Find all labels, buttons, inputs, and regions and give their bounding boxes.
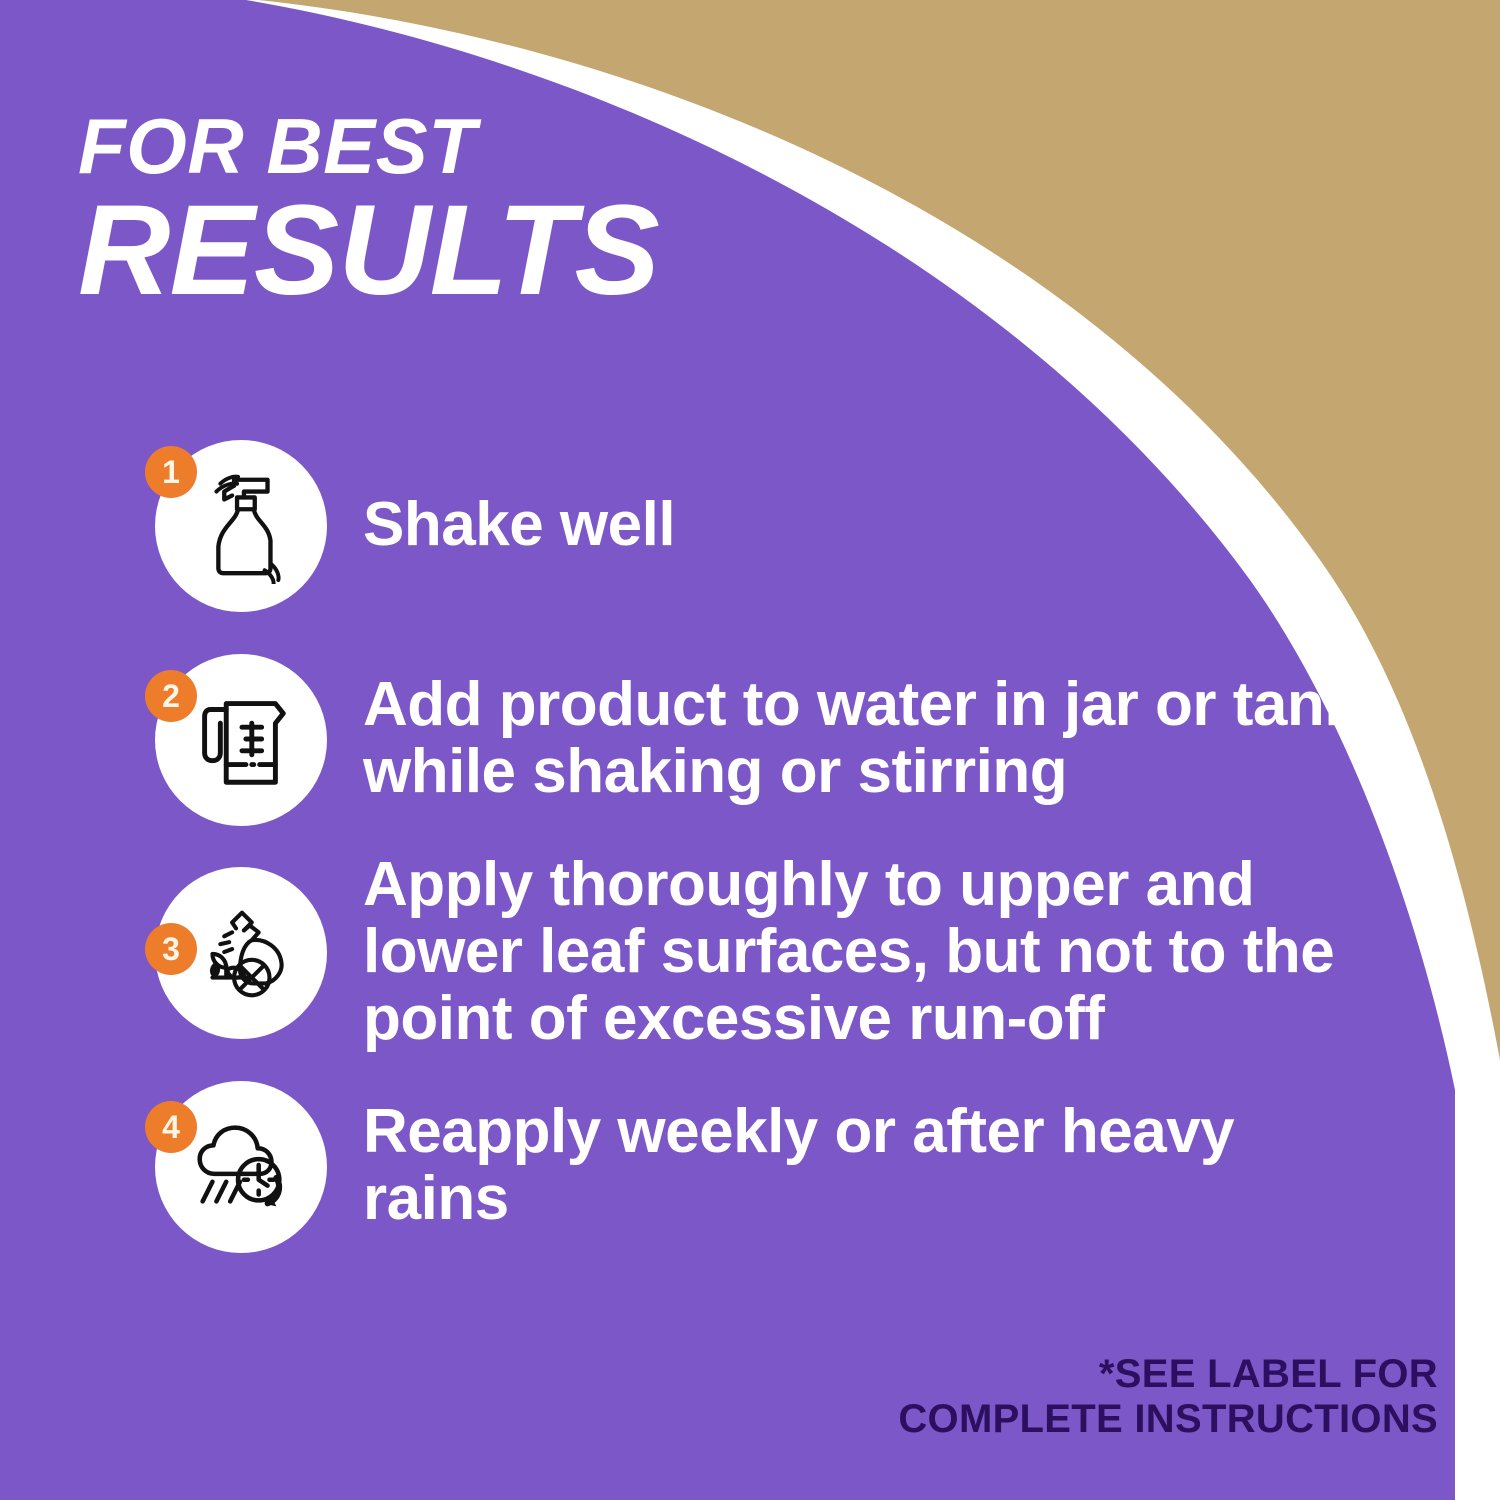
page-title: FOR BEST RESULTS	[78, 108, 659, 317]
spray-plant-no-runoff-icon	[181, 893, 299, 1011]
measuring-pitcher-icon	[181, 680, 299, 798]
footer-line-1: *SEE LABEL FOR	[898, 1352, 1438, 1397]
instruction-steps-list: 1 Shake well 2	[0, 430, 1420, 1279]
step-2-number-badge: 2	[145, 670, 197, 722]
step-4-number-badge: 4	[145, 1101, 197, 1153]
spray-bottle-shake-icon	[181, 466, 299, 584]
step-2-icon-container: 2	[145, 644, 335, 834]
step-1-icon-container: 1	[145, 430, 335, 620]
step-4-text: Reapply weekly or after heavy rains	[363, 1099, 1373, 1233]
list-item-step-1: 1 Shake well	[0, 430, 1420, 620]
step-1-number-badge: 1	[145, 446, 197, 498]
step-1-text: Shake well	[363, 492, 675, 559]
list-item-step-3: 3 Apply thoroughly to upper and lower le…	[0, 852, 1420, 1053]
step-4-icon-container: 4	[145, 1071, 335, 1261]
footer-disclaimer: *SEE LABEL FOR COMPLETE INSTRUCTIONS	[898, 1352, 1438, 1442]
headline-line-2: RESULTS	[78, 186, 659, 317]
list-item-step-2: 2 Add product to water in jar or tank wh…	[0, 644, 1420, 834]
rain-cloud-clock-repeat-icon	[181, 1107, 299, 1225]
footer-line-2: COMPLETE INSTRUCTIONS	[898, 1397, 1438, 1442]
step-3-text: Apply thoroughly to upper and lower leaf…	[363, 852, 1373, 1053]
list-item-step-4: 4 Reapply weekly or after heavy rains	[0, 1071, 1420, 1261]
headline-line-1: FOR BEST	[78, 108, 659, 184]
for-best-results-poster: FOR BEST RESULTS	[0, 0, 1500, 1500]
step-3-icon-container: 3	[145, 857, 335, 1047]
step-2-text: Add product to water in jar or tank whil…	[363, 672, 1373, 806]
